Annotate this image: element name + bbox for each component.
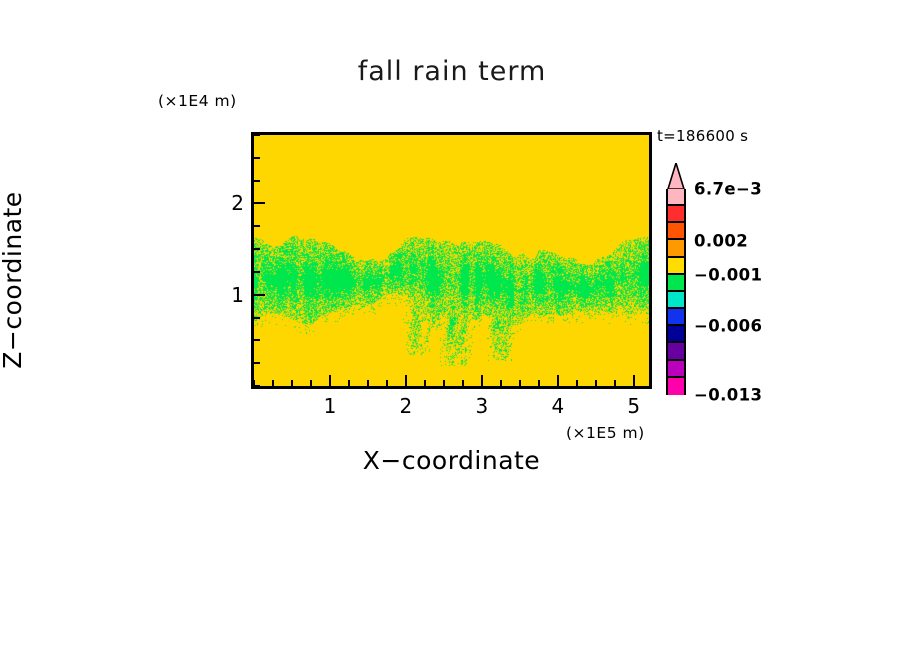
colorbar-band-cyan xyxy=(668,292,684,309)
y-axis-title: Z−coordinate xyxy=(0,170,27,390)
colorbar-band-yellow xyxy=(668,258,684,275)
x-tick-minor xyxy=(310,380,312,386)
y-tick-label: 1 xyxy=(222,283,244,307)
y-tick-minor xyxy=(254,134,260,136)
y-tick-minor xyxy=(254,157,260,159)
x-tick-minor xyxy=(348,380,350,386)
x-tick-minor xyxy=(614,380,616,386)
colorbar-band-purple xyxy=(668,343,684,360)
colorbar-band-orange-red xyxy=(668,223,684,240)
plot-area xyxy=(251,132,652,389)
x-tick-major xyxy=(329,375,331,386)
x-tick-minor xyxy=(386,380,388,386)
y-tick-minor xyxy=(254,225,260,227)
x-tick-minor xyxy=(500,380,502,386)
y-tick-minor xyxy=(254,362,260,364)
colorbar-band-orange xyxy=(668,240,684,257)
timestamp-label: t=186600 s xyxy=(657,127,748,145)
x-tick-minor xyxy=(576,380,578,386)
x-tick-label: 4 xyxy=(551,394,564,418)
colorbar-label: −0.013 xyxy=(694,386,762,405)
x-axis-unit-label: (×1E5 m) xyxy=(566,424,645,442)
colorbar-band-pink-light xyxy=(668,189,684,206)
colorbar-bands xyxy=(666,189,686,395)
colorbar-label: −0.001 xyxy=(694,265,762,284)
y-tick-minor xyxy=(254,248,260,250)
x-tick-minor xyxy=(443,380,445,386)
colorbar-band-red xyxy=(668,206,684,223)
x-tick-minor xyxy=(367,380,369,386)
x-tick-minor xyxy=(519,380,521,386)
y-tick-minor xyxy=(254,180,260,182)
colorbar-label: −0.006 xyxy=(694,317,762,336)
x-tick-minor xyxy=(272,380,274,386)
y-tick-minor xyxy=(254,271,260,273)
x-tick-major xyxy=(633,375,635,386)
x-tick-label: 5 xyxy=(627,394,640,418)
colorbar-arrow-icon xyxy=(666,163,686,189)
contour-field xyxy=(254,135,649,386)
x-tick-label: 3 xyxy=(476,394,489,418)
colorbar-label: 6.7e−3 xyxy=(694,180,762,199)
x-axis-title: X−coordinate xyxy=(251,446,652,475)
x-tick-minor xyxy=(595,380,597,386)
colorbar-band-magenta xyxy=(668,378,684,395)
x-tick-minor xyxy=(462,380,464,386)
y-axis-unit-label: (×1E4 m) xyxy=(158,92,237,110)
x-tick-label: 2 xyxy=(400,394,413,418)
y-tick-major xyxy=(254,294,265,296)
y-tick-minor xyxy=(254,385,260,387)
y-tick-minor xyxy=(254,339,260,341)
x-tick-minor xyxy=(291,380,293,386)
x-tick-minor xyxy=(538,380,540,386)
colorbar-band-green xyxy=(668,275,684,292)
x-tick-major xyxy=(557,375,559,386)
page-title: fall rain term xyxy=(0,56,904,87)
y-tick-major xyxy=(254,202,265,204)
colorbar-band-navy xyxy=(668,326,684,343)
colorbar xyxy=(666,163,686,395)
colorbar-label: 0.002 xyxy=(694,231,748,250)
colorbar-band-magenta-purple xyxy=(668,361,684,378)
x-tick-label: 1 xyxy=(324,394,337,418)
x-tick-major xyxy=(405,375,407,386)
y-tick-label: 2 xyxy=(222,191,244,215)
colorbar-band-blue xyxy=(668,309,684,326)
x-tick-minor xyxy=(424,380,426,386)
y-tick-minor xyxy=(254,317,260,319)
x-tick-major xyxy=(481,375,483,386)
